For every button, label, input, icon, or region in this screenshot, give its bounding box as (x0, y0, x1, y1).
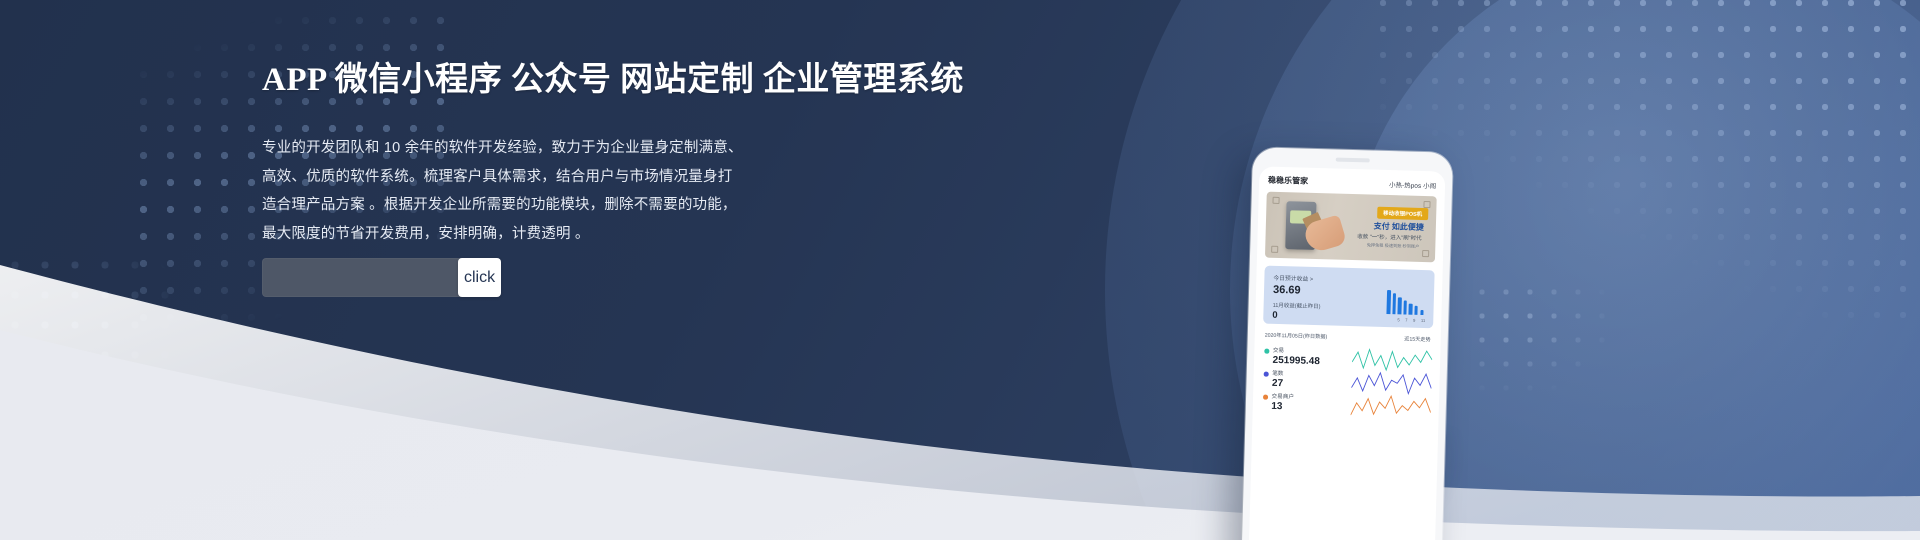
earnings-bar-axis: 57911 (1397, 317, 1425, 323)
bar (1387, 290, 1391, 314)
bar (1414, 306, 1418, 315)
bar-axis-tick: 5 (1397, 317, 1399, 322)
description-line: 专业的开发团队和 10 余年的软件开发经验，致力于为企业量身定制满意、 (262, 134, 1022, 163)
stat-value: 27 (1272, 378, 1284, 389)
bar-axis-tick: 7 (1405, 318, 1407, 323)
banner-corner-clip (1271, 246, 1278, 253)
stat-value: 13 (1271, 401, 1294, 413)
banner-tag: 移动收银POS机 (1377, 207, 1428, 220)
banner-subtitle: 收款 "一"秒，进入"刷"时代 (1357, 232, 1422, 242)
banner-corner-clip (1272, 197, 1279, 204)
banner-title: 支付 如此便捷 (1373, 221, 1424, 233)
stat-label: 交易 (1273, 346, 1320, 355)
bar (1392, 293, 1396, 314)
stat-label: 交易商户 (1271, 392, 1294, 401)
banner-footnote: 免押免租 极速到账 秒到账户 (1367, 242, 1420, 249)
bar-axis-tick: 11 (1421, 318, 1425, 323)
stats-list: 交易 251995.48 笔数 27 (1253, 342, 1441, 416)
stat-row[interactable]: 交易商户 13 (1253, 388, 1440, 416)
bar (1420, 310, 1424, 315)
phone-screen: 稳稳乐管家 小热-热pos 小闯 移动收银POS机 支付 如此便捷 收款 "一"… (1248, 166, 1445, 540)
stats-trend-label: 近15天走势 (1404, 336, 1431, 344)
stats-date-label: 2020年11月05日(昨日数据) (1265, 332, 1328, 341)
page-title: APP 微信小程序 公众号 网站定制 企业管理系统 (262, 52, 1022, 100)
earnings-bar-chart (1387, 288, 1425, 315)
app-user: 小热-热pos 小闯 (1389, 179, 1436, 190)
bar (1409, 304, 1413, 315)
stat-color-dot (1264, 349, 1269, 354)
bar (1398, 297, 1402, 314)
phone-body: 稳稳乐管家 小热-热pos 小闯 移动收银POS机 支付 如此便捷 收款 "一"… (1241, 147, 1453, 540)
app-brand: 稳稳乐管家 (1268, 175, 1308, 187)
stat-label: 笔数 (1272, 369, 1283, 377)
promo-banner[interactable]: 移动收银POS机 支付 如此便捷 收款 "一"秒，进入"刷"时代 免押免租 极速… (1265, 192, 1437, 263)
phone-mockup: 稳稳乐管家 小热-热pos 小闯 移动收银POS机 支付 如此便捷 收款 "一"… (1241, 147, 1453, 540)
stat-sparkline (1351, 391, 1432, 419)
bar-axis-tick: 9 (1413, 318, 1415, 323)
wave-decoration (0, 180, 1920, 540)
banner-corner-clip (1422, 250, 1429, 257)
stat-color-dot (1263, 395, 1268, 400)
hero-banner: APP 微信小程序 公众号 网站定制 企业管理系统 专业的开发团队和 10 余年… (0, 0, 1920, 540)
bar (1403, 300, 1407, 314)
earnings-card[interactable]: 今日预计收益 > 36.69 11月收益(截止昨日) 0 57911 (1263, 266, 1435, 329)
phone-speaker (1336, 158, 1370, 163)
stat-color-dot (1264, 372, 1269, 377)
